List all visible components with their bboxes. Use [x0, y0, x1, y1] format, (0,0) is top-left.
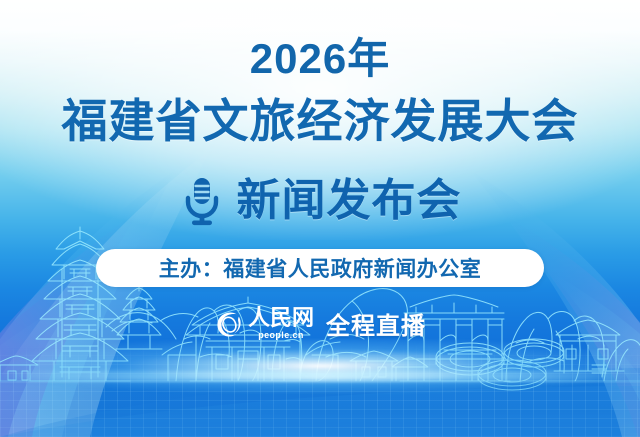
host-label: 主办：福建省人民政府新闻办公室	[159, 253, 482, 283]
subtitle-row: 新闻发布会	[0, 176, 640, 226]
microphone-icon	[179, 176, 225, 226]
live-broadcast-label: 全程直播	[326, 306, 426, 341]
people-cn-globe-icon	[214, 310, 244, 340]
live-broadcast-row: 人民网 people.cn 全程直播	[214, 306, 426, 341]
brand-chinese-name: 人民网	[248, 307, 314, 329]
brand-english-name: people.cn	[258, 331, 304, 340]
conference-poster: 2026年 福建省文旅经济发展大会 新闻发布	[0, 0, 640, 437]
host-banner: 主办：福建省人民政府新闻办公室	[96, 249, 544, 287]
title-year: 2026年	[0, 38, 640, 80]
people-cn-brand: 人民网 people.cn	[214, 307, 314, 340]
poster-content: 2026年 福建省文旅经济发展大会 新闻发布	[0, 0, 640, 437]
people-cn-wordmark: 人民网 people.cn	[248, 307, 314, 340]
subtitle: 新闻发布会	[237, 179, 462, 223]
page-title: 福建省文旅经济发展大会	[0, 96, 640, 148]
